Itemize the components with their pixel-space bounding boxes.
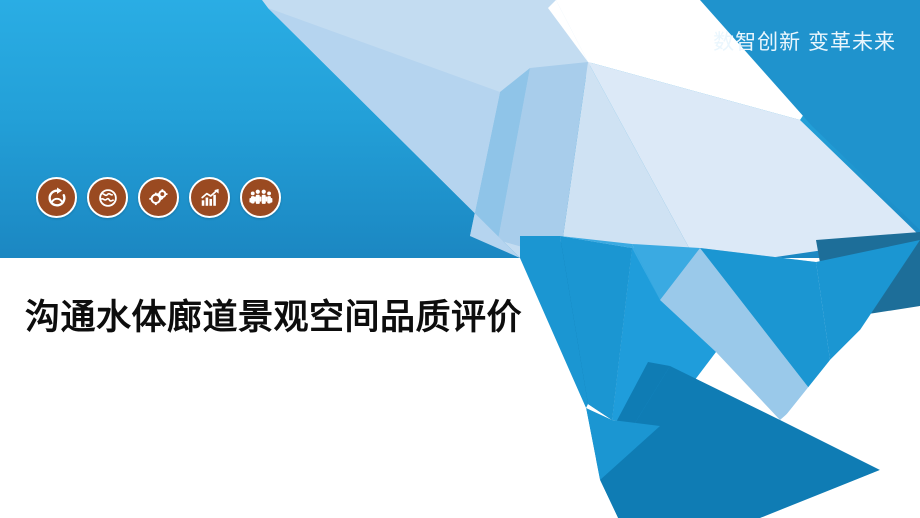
- slide-canvas: 数智创新 变革未来: [0, 0, 920, 518]
- icon-badge-row: [36, 177, 281, 218]
- low-poly-triangle-graphic: [0, 0, 920, 518]
- globe-icon[interactable]: [87, 177, 128, 218]
- bar-chart-icon[interactable]: [189, 177, 230, 218]
- page-title: 沟通水体廊道景观空间品质评价: [25, 292, 545, 344]
- gears-icon[interactable]: [138, 177, 179, 218]
- tagline-text: 数智创新 变革未来: [713, 26, 896, 56]
- refresh-arrow-icon[interactable]: [36, 177, 77, 218]
- people-group-icon[interactable]: [240, 177, 281, 218]
